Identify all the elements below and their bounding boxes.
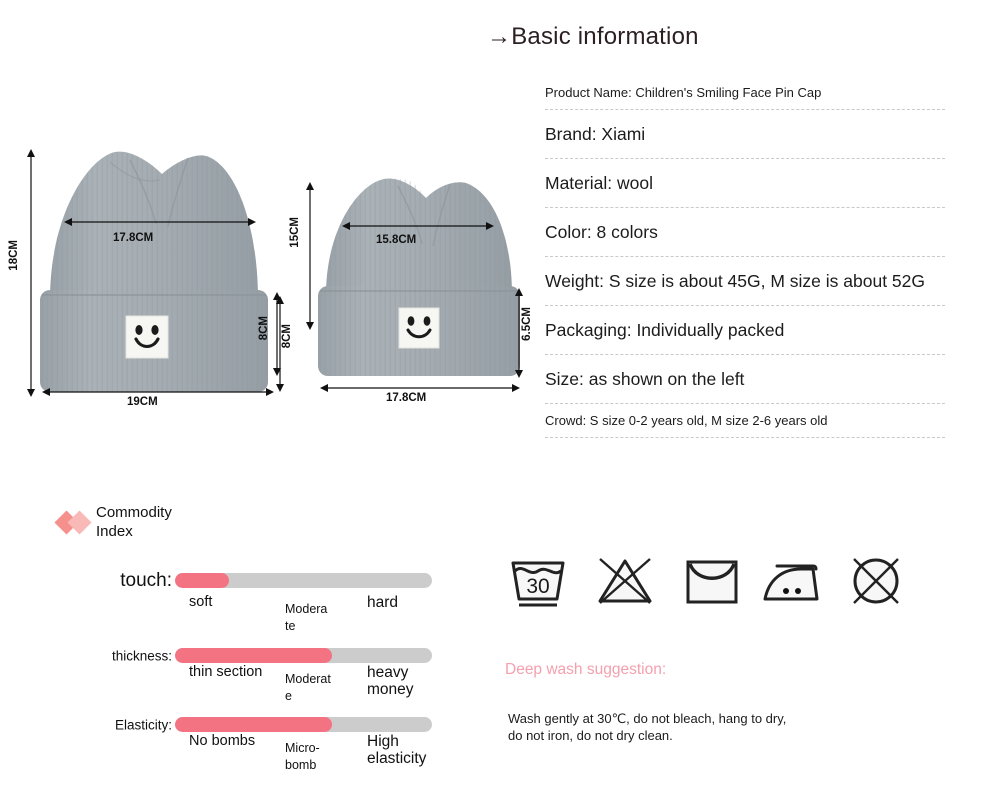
index-bar-label: thickness:	[112, 649, 172, 664]
index-scale-high: High elasticity	[367, 733, 447, 767]
do-not-dry-clean-icon	[843, 553, 909, 611]
m-cuff-height-label: 8CM	[258, 316, 270, 340]
diamond-icon	[56, 511, 100, 535]
info-row-text: Size: as shown on the left	[545, 369, 744, 390]
index-scale-mid: Micro-bomb	[285, 740, 341, 774]
wash-30-icon: 30	[505, 553, 571, 611]
m-cuff-height-arrow	[270, 292, 284, 376]
info-row-text: Material: wool	[545, 173, 653, 194]
index-scale-low: soft	[189, 594, 275, 611]
m-size-hat-diagram: 15CM 15.8CM 8CM 6.5CM 17.8CM	[278, 160, 558, 420]
s-bottom-width-label: 19CM	[127, 396, 158, 408]
svg-text:30: 30	[526, 575, 549, 598]
info-row-packaging: Packaging: Individually packed	[545, 306, 945, 355]
dry-flat-icon	[679, 553, 745, 611]
info-row-material: Material: wool	[545, 159, 945, 208]
info-row-brand: Brand: Xiami	[545, 110, 945, 159]
index-bar-fill	[175, 717, 332, 732]
index-bar-track[interactable]	[175, 573, 432, 588]
basic-information-heading: →Basic information	[487, 23, 699, 51]
care-symbols: 30	[505, 553, 905, 615]
index-bar-label: Elasticity:	[115, 718, 172, 733]
info-row-color: Color: 8 colors	[545, 208, 945, 257]
info-row-weight: Weight: S size is about 45G, M size is a…	[545, 257, 945, 306]
index-scale-high: heavy money	[367, 664, 447, 698]
index-bar-track[interactable]	[175, 717, 432, 732]
s-height-label: 18CM	[8, 240, 20, 271]
index-bar-fill	[175, 648, 332, 663]
s-bottom-width-arrow	[42, 386, 274, 398]
product-infographic: 18CM 17.8CM 8CM 19CM	[0, 0, 1000, 799]
s-size-hat-svg	[10, 140, 300, 420]
index-bar-label: touch:	[120, 570, 172, 592]
info-row-text: Packaging: Individually packed	[545, 320, 784, 341]
info-row-text: Weight: S size is about 45G, M size is a…	[545, 271, 925, 292]
deep-wash-suggestion-body: Wash gently at 30℃, do not bleach, hang …	[508, 710, 786, 744]
index-scale-touch: soft Modera te hard	[175, 594, 445, 640]
index-scale-thickness: thin section Moderat e heavy money	[175, 664, 445, 710]
index-bar-track[interactable]	[175, 648, 432, 663]
commodity-index-title: Commodity Index	[96, 503, 206, 541]
info-row-text: Color: 8 colors	[545, 222, 658, 243]
arrow-right-icon: →	[487, 23, 511, 50]
m-bottom-width-label: 17.8CM	[386, 392, 426, 404]
s-crown-width-arrow	[64, 216, 256, 228]
basic-information-title: Basic information	[511, 23, 698, 50]
info-row-product-name: Product Name: Children's Smiling Face Pi…	[545, 76, 945, 110]
m-height-label: 15CM	[289, 217, 301, 248]
basic-information-list: Product Name: Children's Smiling Face Pi…	[545, 76, 945, 438]
index-scale-low: No bombs	[189, 733, 275, 750]
index-scale-mid: Moderat e	[285, 671, 341, 705]
m-height-arrow	[303, 182, 317, 330]
index-scale-elasticity: No bombs Micro-bomb High elasticity	[175, 733, 445, 779]
info-row-text: Crowd: S size 0-2 years old, M size 2-6 …	[545, 413, 828, 428]
s-height-arrow	[24, 149, 38, 397]
deep-wash-suggestion-title: Deep wash suggestion:	[505, 661, 666, 679]
s-crown-width-label: 17.8CM	[113, 232, 153, 244]
info-row-size: Size: as shown on the left	[545, 355, 945, 404]
info-row-crowd: Crowd: S size 0-2 years old, M size 2-6 …	[545, 404, 945, 438]
index-scale-high: hard	[367, 594, 447, 611]
m-crown-width-label: 15.8CM	[376, 234, 416, 246]
m-crown-width-arrow	[342, 220, 494, 232]
info-row-text: Product Name: Children's Smiling Face Pi…	[545, 85, 821, 100]
s-size-hat-diagram: 18CM 17.8CM 8CM 19CM	[10, 140, 300, 420]
info-row-text: Brand: Xiami	[545, 124, 645, 145]
index-bar-fill	[175, 573, 229, 588]
do-not-bleach-icon	[592, 553, 658, 611]
iron-two-dots-icon	[757, 553, 833, 611]
index-scale-mid: Modera te	[285, 601, 341, 635]
m-side-height-label: 6.5CM	[521, 307, 533, 341]
index-scale-low: thin section	[189, 664, 275, 681]
index-bar-touch: touch:	[0, 570, 470, 592]
